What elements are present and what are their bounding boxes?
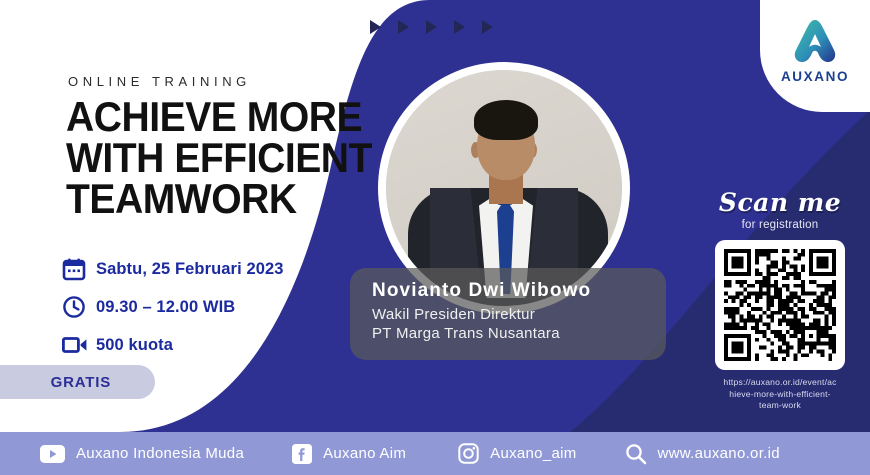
triangle-right-icon xyxy=(398,20,409,34)
youtube-icon xyxy=(40,445,65,463)
instagram-icon xyxy=(458,443,479,464)
clock-icon xyxy=(62,295,96,319)
footer-item-facebook[interactable]: Auxano Aim xyxy=(292,444,406,464)
event-details: Sabtu, 25 Februari 2023 09.30 – 12.00 WI… xyxy=(62,252,362,366)
qr-code[interactable] xyxy=(715,240,845,370)
detail-row-quota: 500 kuota xyxy=(62,328,362,362)
url-line-3: team-work xyxy=(759,400,801,410)
detail-quota-text: 500 kuota xyxy=(96,336,173,355)
triangle-right-icon xyxy=(482,20,493,34)
headline-line-3: TEAMWORK xyxy=(66,178,345,219)
price-badge: GRATIS xyxy=(0,365,155,399)
decorative-arrows xyxy=(370,20,493,34)
detail-date-text: Sabtu, 25 Februari 2023 xyxy=(96,260,284,279)
scan-section: Scan me for registration https://auxano.… xyxy=(700,188,860,412)
footer-label-instagram: Auxano_aim xyxy=(490,445,576,462)
calendar-icon xyxy=(62,257,96,281)
scan-me-title: Scan me xyxy=(700,188,860,217)
speaker-role: Wakil Presiden Direktur xyxy=(372,305,666,324)
scan-me-subtitle: for registration xyxy=(700,219,860,231)
headline-line-2: WITH EFFICIENT xyxy=(66,137,345,178)
footer-item-youtube[interactable]: Auxano Indonesia Muda xyxy=(40,445,244,463)
footer-item-instagram[interactable]: Auxano_aim xyxy=(458,443,576,464)
auxano-wordmark: AUXANO xyxy=(776,69,854,84)
triangle-right-icon xyxy=(370,20,381,34)
price-badge-label: GRATIS xyxy=(51,374,111,391)
kicker-text: ONLINE TRAINING xyxy=(68,74,251,89)
detail-row-time: 09.30 – 12.00 WIB xyxy=(62,290,362,324)
facebook-icon xyxy=(292,444,312,464)
promo-poster: AUXANO ONLINE TRAINING ACHIEVE MORE WITH… xyxy=(0,0,870,475)
footer-label-website: www.auxano.or.id xyxy=(658,445,780,462)
footer-item-website[interactable]: www.auxano.or.id xyxy=(625,443,780,465)
video-camera-icon xyxy=(62,334,96,356)
footer-label-facebook: Auxano Aim xyxy=(323,445,406,462)
detail-time-text: 09.30 – 12.00 WIB xyxy=(96,298,235,317)
speaker-name: Novianto Dwi Wibowo xyxy=(372,280,666,302)
page-title: ACHIEVE MORE WITH EFFICIENT TEAMWORK xyxy=(66,96,345,219)
detail-row-date: Sabtu, 25 Februari 2023 xyxy=(62,252,362,286)
headline-line-1: ACHIEVE MORE xyxy=(66,96,345,137)
footer-label-youtube: Auxano Indonesia Muda xyxy=(76,445,244,462)
auxano-logo: AUXANO xyxy=(776,14,854,98)
search-icon xyxy=(625,443,647,465)
url-line-2: hieve-more-with-efficient- xyxy=(729,389,831,399)
speaker-company: PT Marga Trans Nusantara xyxy=(372,324,666,343)
auxano-mark-icon xyxy=(789,14,841,68)
registration-url: https://auxano.or.id/event/ac hieve-more… xyxy=(700,377,860,412)
speaker-info-card: Novianto Dwi Wibowo Wakil Presiden Direk… xyxy=(350,268,666,360)
triangle-right-icon xyxy=(454,20,465,34)
triangle-right-icon xyxy=(426,20,437,34)
url-line-1: https://auxano.or.id/event/ac xyxy=(723,377,836,387)
social-footer: Auxano Indonesia Muda Auxano Aim Auxano_… xyxy=(0,432,870,475)
